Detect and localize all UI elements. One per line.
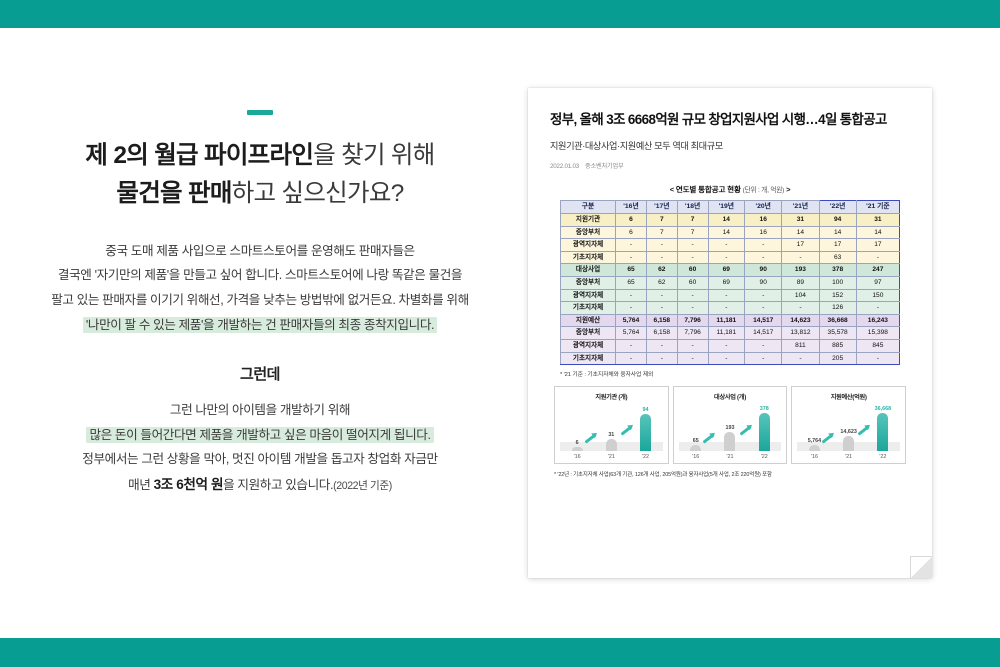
table-cell: 150	[856, 289, 899, 302]
table-cell: -	[856, 352, 899, 365]
table-cell: 62	[646, 264, 677, 277]
table-row-label: 광역지자체	[561, 239, 616, 252]
table-cell: 60	[677, 277, 708, 290]
table-cell: -	[745, 289, 782, 302]
table-cell: 5,764	[616, 314, 647, 327]
table-row: 기초지자체------63-	[561, 251, 900, 264]
chart-bar-value-label: 378	[752, 406, 777, 412]
table-cell: 65	[616, 277, 647, 290]
left-content-column: 제 2의 월급 파이프라인을 찾기 위해 물건을 판매하고 싶으신가요? 중국 …	[20, 60, 500, 580]
table-cell: 13,812	[782, 327, 819, 340]
table-cell: -	[646, 352, 677, 365]
article-source: 중소벤처기업부	[585, 163, 623, 170]
table-cell: -	[782, 302, 819, 315]
table-cell: 14,517	[745, 314, 782, 327]
table-cell: 11,181	[708, 314, 745, 327]
article-meta: 2022.01.03 중소벤처기업부	[550, 161, 910, 170]
table-cell: -	[856, 251, 899, 264]
table-cell: 14,623	[782, 314, 819, 327]
table-caption-text: < 연도별 통합공고 현황	[670, 185, 741, 194]
chart-bar	[690, 445, 701, 452]
chart-x-tick: '16	[802, 454, 827, 460]
table-caption-unit: (단위 : 개, 억원)	[743, 187, 784, 194]
chart-bar	[843, 436, 854, 451]
table-cell: 811	[782, 339, 819, 352]
table-cell: 378	[819, 264, 856, 277]
table-footnote-1: * '21 기준 : 기초지자체와 융자사업 제외	[560, 369, 900, 378]
table-cell: -	[677, 251, 708, 264]
chart-title: 지원예산(억원)	[795, 392, 902, 401]
table-cell: -	[616, 302, 647, 315]
table-row-label: 기초지자체	[561, 251, 616, 264]
body-line-highlighted: 많은 돈이 들어간다면 제품을 개발하고 싶은 마음이 떨어지게 됩니다.	[20, 423, 500, 448]
table-cell: 69	[708, 277, 745, 290]
table-cell: -	[677, 289, 708, 302]
chart-bar	[640, 414, 651, 452]
table-row-label: 광역지자체	[561, 289, 616, 302]
amount-suffix: 을 지원하고 있습니다.	[223, 478, 333, 492]
article-subheadline: 지원기관·대상사업·지원예산 모두 역대 최대규모	[550, 138, 910, 152]
chart-plot-area: 5,76414,62336,668'16'21'22	[795, 403, 902, 461]
table-cell: -	[782, 352, 819, 365]
chart-bar	[759, 413, 770, 451]
body-paragraph-2: 그런 나만의 아이템을 개발하기 위해 많은 돈이 들어간다면 제품을 개발하고…	[20, 398, 500, 498]
article-date: 2022.01.03	[550, 163, 579, 170]
chart-x-tick: '21	[599, 454, 624, 460]
table-row-label: 중앙부처	[561, 226, 616, 239]
highlight-text: 많은 돈이 들어간다면 제품을 개발하고 싶은 마음이 떨어지게 됩니다.	[86, 427, 433, 443]
amount-prefix: 매년	[128, 478, 153, 492]
table-row: 기초지자체------126-	[561, 302, 900, 315]
table-row-label: 대상사업	[561, 264, 616, 277]
chart-title: 대상사업 (개)	[677, 392, 784, 401]
table-cell: -	[745, 352, 782, 365]
table-cell: 247	[856, 264, 899, 277]
accent-dash-icon	[247, 110, 273, 115]
table-cell: 205	[819, 352, 856, 365]
chart-bar-value-label: 193	[718, 425, 743, 431]
body-line: 팔고 있는 판매자를 이기기 위해선, 가격을 낮추는 방법밖에 없거든요. 차…	[20, 288, 500, 313]
table-cell: -	[708, 352, 745, 365]
table-row: 광역지자체-----811885845	[561, 339, 900, 352]
table-cell: 6	[616, 226, 647, 239]
table-cell: 5,764	[616, 327, 647, 340]
headline-line2-rest: 하고 싶으신가요?	[232, 180, 404, 207]
table-cell: -	[745, 251, 782, 264]
table-cell: 90	[745, 277, 782, 290]
table-row-label: 광역지자체	[561, 339, 616, 352]
table-col-header: '22년	[819, 201, 856, 214]
chart-bars: 63194	[560, 403, 663, 451]
chart-bar	[877, 413, 888, 452]
mini-bar-chart: 지원기관 (개)63194'16'21'22	[554, 386, 669, 464]
table-row: 대상사업6562606990193378247	[561, 264, 900, 277]
table-row: 중앙부처5,7646,1587,79611,18114,51713,81235,…	[561, 327, 900, 340]
table-cell: 7	[677, 226, 708, 239]
table-cell: 7,796	[677, 327, 708, 340]
table-cell: -	[745, 239, 782, 252]
article-headline: 정부, 올해 3조 6668억원 규모 창업지원사업 시행…4일 통합공고	[550, 110, 910, 129]
table-cell: 35,578	[819, 327, 856, 340]
table-cell: -	[677, 239, 708, 252]
table-header: 구분'16년'17년'18년'19년'20년'21년'22년'21 기준	[561, 201, 900, 214]
table-row: 광역지자체-----171717	[561, 239, 900, 252]
table-caption: < 연도별 통합공고 현황 (단위 : 개, 억원) >	[550, 184, 910, 195]
table-row: 중앙부처65626069908910097	[561, 277, 900, 290]
card-body: 정부, 올해 3조 6668억원 규모 창업지원사업 시행…4일 통합공고 지원…	[528, 88, 932, 488]
table-cell: 14	[708, 226, 745, 239]
table-row-label: 기초지자체	[561, 302, 616, 315]
chart-bar-value-label: 94	[633, 407, 658, 413]
highlight-text: '나만이 팔 수 있는 제품'을 개발하는 건 판매자들의 최종 종착지입니다.	[83, 317, 437, 333]
chart-bar	[606, 439, 617, 451]
table-cell: -	[646, 239, 677, 252]
table-cell: 90	[745, 264, 782, 277]
table-cell: 97	[856, 277, 899, 290]
chart-title: 지원기관 (개)	[558, 392, 665, 401]
table-cell: -	[616, 339, 647, 352]
table-cell: 7	[646, 214, 677, 227]
amount-note: (2022년 기준)	[333, 480, 392, 492]
body-line: 그런 나만의 아이템을 개발하기 위해	[20, 398, 500, 423]
table-col-header: '21 기준	[856, 201, 899, 214]
chart-bar-item: 193	[718, 425, 743, 451]
table-cell: -	[856, 302, 899, 315]
chart-x-tick: '16	[683, 454, 708, 460]
table-cell: 7	[677, 214, 708, 227]
table-cell: 14	[819, 226, 856, 239]
table-cell: 14	[708, 214, 745, 227]
table-row: 지원예산5,7646,1587,79611,18114,51714,62336,…	[561, 314, 900, 327]
table-cell: -	[616, 289, 647, 302]
table-col-header: '17년	[646, 201, 677, 214]
table-cell: 6,158	[646, 327, 677, 340]
chart-plot-area: 65193378'16'21'22	[677, 403, 784, 461]
table-row-label: 지원예산	[561, 314, 616, 327]
headline-line1-bold: 제 2의 월급 파이프라인	[85, 142, 313, 169]
table-cell: 14	[856, 226, 899, 239]
table-cell: -	[745, 302, 782, 315]
table-cell: -	[708, 251, 745, 264]
mini-charts-row: 지원기관 (개)63194'16'21'22대상사업 (개)65193378'1…	[554, 386, 906, 464]
body-line: 중국 도매 제품 사입으로 스마트스토어를 운영해도 판매자들은	[20, 239, 500, 264]
page-title: 제 2의 월급 파이프라인을 찾기 위해 물건을 판매하고 싶으신가요?	[20, 137, 500, 213]
table-cell: 7,796	[677, 314, 708, 327]
table-cell: -	[646, 289, 677, 302]
table-col-header: '21년	[782, 201, 819, 214]
table-cell: -	[677, 302, 708, 315]
chart-bar	[572, 447, 583, 451]
table-col-header: '20년	[745, 201, 782, 214]
table-cell: -	[646, 339, 677, 352]
top-accent-bar	[0, 0, 1000, 28]
table-cell: -	[677, 339, 708, 352]
mini-bar-chart: 대상사업 (개)65193378'16'21'22	[673, 386, 788, 464]
mini-bar-chart: 지원예산(억원)5,76414,62336,668'16'21'22	[791, 386, 906, 464]
table-cell: 65	[616, 264, 647, 277]
chart-x-tick: '21	[718, 454, 743, 460]
table-cell: 17	[782, 239, 819, 252]
table-cell: 16	[745, 214, 782, 227]
table-cell: 63	[819, 251, 856, 264]
table-row-label: 기초지자체	[561, 352, 616, 365]
table-cell: 7	[646, 226, 677, 239]
chart-bar	[809, 445, 820, 451]
table-row-label: 중앙부처	[561, 277, 616, 290]
table-cell: 126	[819, 302, 856, 315]
table-cell: 36,668	[819, 314, 856, 327]
table-cell: -	[616, 251, 647, 264]
table-cell: -	[708, 239, 745, 252]
chart-x-tick: '21	[836, 454, 861, 460]
chart-bars: 65193378	[679, 403, 782, 451]
table-row: 지원기관6771416319431	[561, 214, 900, 227]
headline-line-2: 물건을 판매하고 싶으신가요?	[20, 175, 500, 213]
table-cell: 16	[745, 226, 782, 239]
chart-plot-area: 63194'16'21'22	[558, 403, 665, 461]
news-article-card: 정부, 올해 3조 6668억원 규모 창업지원사업 시행…4일 통합공고 지원…	[528, 88, 932, 578]
table-cell: 104	[782, 289, 819, 302]
table-cell: 15,398	[856, 327, 899, 340]
chart-x-labels: '16'21'22	[560, 454, 663, 460]
table-cell: 845	[856, 339, 899, 352]
chart-x-tick: '22	[752, 454, 777, 460]
chart-x-labels: '16'21'22	[797, 454, 900, 460]
table-body: 지원기관6771416319431중앙부처6771416141414광역지자체-…	[561, 214, 900, 365]
chart-bar-value-label: 36,668	[871, 406, 896, 412]
chart-bars: 5,76414,62336,668	[797, 403, 900, 451]
chart-bar-item: 378	[752, 406, 777, 451]
body-paragraph-1: 중국 도매 제품 사입으로 스마트스토어를 운영해도 판매자들은 결국엔 '자기…	[20, 239, 500, 337]
chart-x-tick: '16	[565, 454, 590, 460]
chart-x-tick: '22	[633, 454, 658, 460]
chart-bar-item: 36,668	[871, 406, 896, 452]
headline-line2-bold: 물건을 판매	[116, 180, 231, 207]
table-cell: 17	[819, 239, 856, 252]
table-cell: -	[708, 339, 745, 352]
table-cell: 6,158	[646, 314, 677, 327]
table-cell: 14,517	[745, 327, 782, 340]
table-row-label: 지원기관	[561, 214, 616, 227]
table-cell: 60	[677, 264, 708, 277]
amount-value: 3조 6천억 원	[154, 477, 224, 492]
chart-bar-item: 94	[633, 407, 658, 452]
table-cell: 885	[819, 339, 856, 352]
table-row: 광역지자체-----104152150	[561, 289, 900, 302]
table-cell: 193	[782, 264, 819, 277]
table-cell: 14	[782, 226, 819, 239]
body-line-highlighted: '나만이 팔 수 있는 제품'을 개발하는 건 판매자들의 최종 종착지입니다.	[20, 313, 500, 338]
bottom-accent-bar	[0, 638, 1000, 667]
table-row: 기초지자체------205-	[561, 352, 900, 365]
table-cell: 94	[819, 214, 856, 227]
table-cell: 6	[616, 214, 647, 227]
table-cell: 17	[856, 239, 899, 252]
table-cell: -	[708, 289, 745, 302]
table-cell: 89	[782, 277, 819, 290]
section-subtitle: 그런데	[20, 363, 500, 384]
table-cell: -	[677, 352, 708, 365]
table-footnote-2: * '22년 : 기초지자체 사업(63개 기관, 126개 사업, 205억원…	[554, 470, 906, 478]
table-col-header: '16년	[616, 201, 647, 214]
table-cell: -	[708, 302, 745, 315]
table-row: 중앙부처6771416141414	[561, 226, 900, 239]
body-line: 정부에서는 그런 상황을 막아, 멋진 아이템 개발을 돕고자 창업화 자금만	[20, 447, 500, 472]
table-cell: 100	[819, 277, 856, 290]
table-cell: -	[745, 339, 782, 352]
table-col-header: 구분	[561, 201, 616, 214]
headline-line-1: 제 2의 월급 파이프라인을 찾기 위해	[20, 137, 500, 175]
table-cell: -	[616, 239, 647, 252]
table-cell: -	[616, 352, 647, 365]
slide-page: 제 2의 월급 파이프라인을 찾기 위해 물건을 판매하고 싶으신가요? 중국 …	[0, 0, 1000, 667]
table-cell: 31	[856, 214, 899, 227]
table-cell: 152	[819, 289, 856, 302]
page-fold-corner-icon	[910, 556, 932, 578]
table-caption-close: >	[786, 185, 790, 194]
table-cell: -	[782, 251, 819, 264]
table-header-row: 구분'16년'17년'18년'19년'20년'21년'22년'21 기준	[561, 201, 900, 214]
table-cell: -	[646, 251, 677, 264]
table-cell: -	[646, 302, 677, 315]
chart-x-tick: '22	[871, 454, 896, 460]
chart-bar	[724, 432, 735, 451]
chart-bar-item: 31	[599, 432, 624, 451]
table-cell: 16,243	[856, 314, 899, 327]
body-line: 결국엔 '자기만의 제품'을 만들고 싶어 합니다. 스마트스토어에 나랑 똑같…	[20, 263, 500, 288]
table-col-header: '18년	[677, 201, 708, 214]
table-row-label: 중앙부처	[561, 327, 616, 340]
body-line-amount: 매년 3조 6천억 원을 지원하고 있습니다.(2022년 기준)	[20, 472, 500, 499]
headline-line1-rest: 을 찾기 위해	[313, 142, 434, 169]
chart-x-labels: '16'21'22	[679, 454, 782, 460]
annual-announcement-table: 구분'16년'17년'18년'19년'20년'21년'22년'21 기준 지원기…	[560, 200, 900, 365]
table-col-header: '19년	[708, 201, 745, 214]
table-cell: 69	[708, 264, 745, 277]
table-cell: 31	[782, 214, 819, 227]
table-cell: 11,181	[708, 327, 745, 340]
table-cell: 62	[646, 277, 677, 290]
